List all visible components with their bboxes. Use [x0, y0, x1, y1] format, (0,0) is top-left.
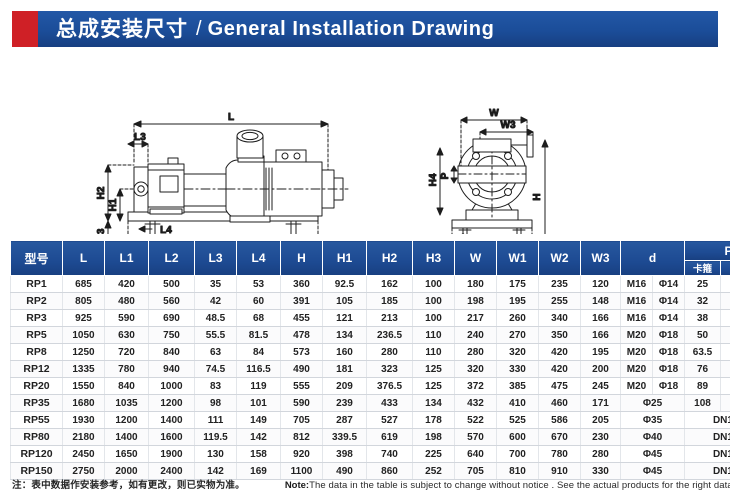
cell-L1: 1650 [105, 446, 149, 463]
cell-p-flange: DN65 [721, 361, 730, 378]
col-header-H2: H2 [367, 241, 413, 276]
cell-L: 2450 [63, 446, 105, 463]
col-header-P-clamp: 卡箍 [685, 261, 721, 276]
col-header-W1: W1 [497, 241, 539, 276]
cell-L1: 1200 [105, 412, 149, 429]
cell-W1: 600 [497, 429, 539, 446]
end-view-drawing: W W3 H4 [428, 108, 548, 234]
cell-H1: 339.5 [323, 429, 367, 446]
table-row: RP35168010351200981015902394331344324104… [11, 395, 730, 412]
cell-L4: 142 [237, 429, 281, 446]
cell-H3: 110 [413, 344, 455, 361]
cell-d2: Φ14 [653, 293, 685, 310]
cell-H: 478 [281, 327, 323, 344]
cell-d1: M16 [621, 293, 653, 310]
cell-L4: 60 [237, 293, 281, 310]
cell-L1: 1035 [105, 395, 149, 412]
cell-H: 812 [281, 429, 323, 446]
cell-L3: 42 [195, 293, 237, 310]
cell-H3: 125 [413, 378, 455, 395]
cell-L1: 630 [105, 327, 149, 344]
cell-H: 391 [281, 293, 323, 310]
footer-note-en-label: Note: [285, 480, 309, 491]
cell-W3: 166 [581, 310, 621, 327]
col-header-H: H [281, 241, 323, 276]
table-row: RP12133578094074.5116.549018132312532033… [11, 361, 730, 378]
specification-table-container: 型号 L L1 L2 L3 L4 H H1 H2 H3 W W1 W2 W3 d… [10, 240, 722, 480]
cell-L3: 74.5 [195, 361, 237, 378]
cell-L4: 68 [237, 310, 281, 327]
foot-right [283, 221, 305, 234]
col-header-L3: L3 [195, 241, 237, 276]
cell-p-merged: DN125 [685, 429, 730, 446]
page-title-cn: 总成安装尺寸 [56, 19, 188, 40]
footer-note-cn: 注：表中数据作安装参考，如有更改，则已实物为准。 [12, 477, 245, 491]
cell-model: RP12 [11, 361, 63, 378]
cell-W: 217 [455, 310, 497, 327]
cell-W2: 475 [539, 378, 581, 395]
cell-L: 685 [63, 276, 105, 293]
cell-W3: 245 [581, 378, 621, 395]
cell-W3: 166 [581, 327, 621, 344]
footer-note-en: Note:The data in the table is subject to… [285, 480, 730, 491]
cell-H2: 162 [367, 276, 413, 293]
cell-H: 705 [281, 412, 323, 429]
cell-H3: 100 [413, 310, 455, 327]
cell-H1: 134 [323, 327, 367, 344]
cell-W2: 670 [539, 429, 581, 446]
cell-H3: 110 [413, 327, 455, 344]
cell-d1: M20 [621, 327, 653, 344]
cell-L2: 840 [149, 344, 195, 361]
end-foot-left [456, 228, 474, 234]
cell-W: 280 [455, 344, 497, 361]
cell-W3: 171 [581, 395, 621, 412]
cell-L3: 98 [195, 395, 237, 412]
cell-L2: 560 [149, 293, 195, 310]
cell-W: 198 [455, 293, 497, 310]
cell-model: RP55 [11, 412, 63, 429]
cell-d1: M20 [621, 361, 653, 378]
cell-W3: 120 [581, 276, 621, 293]
cell-L2: 1900 [149, 446, 195, 463]
cell-W: 640 [455, 446, 497, 463]
cell-W2: 460 [539, 395, 581, 412]
cell-L3: 35 [195, 276, 237, 293]
cell-H: 573 [281, 344, 323, 361]
table-row: RP28054805604260391105185100198195255148… [11, 293, 730, 310]
cell-W2: 255 [539, 293, 581, 310]
cell-p-clamp: 38 [685, 310, 721, 327]
dimension-L3: L3 [128, 132, 148, 164]
cell-L2: 940 [149, 361, 195, 378]
table-header: 型号 L L1 L2 L3 L4 H H1 H2 H3 W W1 W2 W3 d… [11, 241, 730, 276]
page-title-en: General Installation Drawing [208, 19, 495, 39]
table-body: RP1685420500355336092.516210018017523512… [11, 276, 730, 480]
cell-L2: 500 [149, 276, 195, 293]
cell-L4: 149 [237, 412, 281, 429]
cell-W1: 320 [497, 344, 539, 361]
cell-d-merged: Φ25 [621, 395, 685, 412]
cell-W: 372 [455, 378, 497, 395]
cell-H: 920 [281, 446, 323, 463]
cell-L: 1050 [63, 327, 105, 344]
specification-table: 型号 L L1 L2 L3 L4 H H1 H2 H3 W W1 W2 W3 d… [10, 240, 730, 480]
cell-d2: Φ18 [653, 378, 685, 395]
col-header-L4: L4 [237, 241, 281, 276]
cell-L3: 55.5 [195, 327, 237, 344]
footer-note-en-text: The data in the table is subject to chan… [309, 480, 730, 491]
cell-W3: 230 [581, 429, 621, 446]
cell-W2: 350 [539, 327, 581, 344]
cell-p-merged: DN150 [685, 446, 730, 463]
banner-accent-block [12, 11, 38, 47]
cell-H: 360 [281, 276, 323, 293]
cell-L2: 750 [149, 327, 195, 344]
cell-H2: 376.5 [367, 378, 413, 395]
cell-p-flange: DN100 [721, 395, 730, 412]
dim-label-H2: H2 [96, 186, 107, 199]
cell-L2: 1400 [149, 412, 195, 429]
cell-W: 570 [455, 429, 497, 446]
cell-W1: 270 [497, 327, 539, 344]
dimension-P: P [440, 166, 457, 183]
dimension-H: H [532, 140, 548, 234]
cell-p-flange: DN25 [721, 293, 730, 310]
cell-d-merged: Φ45 [621, 446, 685, 463]
cell-H3: 100 [413, 293, 455, 310]
cell-H: 555 [281, 378, 323, 395]
cell-d1: M16 [621, 310, 653, 327]
cell-L3: 119.5 [195, 429, 237, 446]
cell-d2: Φ14 [653, 276, 685, 293]
installation-drawing-svg: L L3 H2 [0, 52, 730, 234]
table-row: RP12024501650190013015892039874022564070… [11, 446, 730, 463]
col-header-P-flange: 法兰 [721, 261, 730, 276]
gearbox-body [226, 130, 270, 222]
cell-H3: 198 [413, 429, 455, 446]
cell-L4: 53 [237, 276, 281, 293]
cell-H2: 527 [367, 412, 413, 429]
dim-label-H3: H3 [96, 228, 107, 234]
cell-L: 2180 [63, 429, 105, 446]
col-header-W: W [455, 241, 497, 276]
dim-label-H1: H1 [108, 198, 119, 211]
cell-W1: 385 [497, 378, 539, 395]
cell-L1: 780 [105, 361, 149, 378]
dim-label-P: P [440, 172, 451, 179]
col-header-H1: H1 [323, 241, 367, 276]
col-header-model: 型号 [11, 241, 63, 276]
col-header-H3: H3 [413, 241, 455, 276]
cell-H2: 280 [367, 344, 413, 361]
cell-H1: 160 [323, 344, 367, 361]
cell-L2: 1000 [149, 378, 195, 395]
cell-W3: 148 [581, 293, 621, 310]
col-header-W3: W3 [581, 241, 621, 276]
cell-L: 805 [63, 293, 105, 310]
cell-model: RP120 [11, 446, 63, 463]
table-row: RP1685420500355336092.516210018017523512… [11, 276, 730, 293]
cell-W2: 780 [539, 446, 581, 463]
cell-L2: 1200 [149, 395, 195, 412]
table-row: RP201550840100083119555209376.5125372385… [11, 378, 730, 395]
cell-W1: 195 [497, 293, 539, 310]
cell-W2: 586 [539, 412, 581, 429]
table-row: RP55193012001400111149705287527178522525… [11, 412, 730, 429]
cell-L1: 720 [105, 344, 149, 361]
cell-d1: M20 [621, 344, 653, 361]
cell-p-flange: DN50 [721, 344, 730, 361]
col-header-d: d [621, 241, 685, 276]
banner-bar: 总成安装尺寸 / General Installation Drawing [38, 11, 718, 47]
cell-d2: Φ18 [653, 344, 685, 361]
cell-p-flange: DN40 [721, 327, 730, 344]
dim-label-W: W [489, 108, 499, 119]
cell-W2: 420 [539, 361, 581, 378]
cell-H: 590 [281, 395, 323, 412]
cell-H2: 619 [367, 429, 413, 446]
cell-W: 522 [455, 412, 497, 429]
cell-W3: 195 [581, 344, 621, 361]
cell-L: 1250 [63, 344, 105, 361]
cell-H2: 740 [367, 446, 413, 463]
cell-p-clamp: 50 [685, 327, 721, 344]
cell-H1: 239 [323, 395, 367, 412]
cell-L3: 83 [195, 378, 237, 395]
cell-L4: 81.5 [237, 327, 281, 344]
cell-H: 455 [281, 310, 323, 327]
cell-p-clamp: 89 [685, 378, 721, 395]
cell-L2: 1600 [149, 429, 195, 446]
cell-d2: Φ18 [653, 327, 685, 344]
dim-label-W3: W3 [501, 120, 516, 131]
cell-model: RP2 [11, 293, 63, 310]
table-row: RP81250720840638457316028011028032042019… [11, 344, 730, 361]
cell-W1: 260 [497, 310, 539, 327]
cell-L4: 158 [237, 446, 281, 463]
cell-p-clamp: 108 [685, 395, 721, 412]
cell-L3: 48.5 [195, 310, 237, 327]
cell-p-clamp: 76 [685, 361, 721, 378]
table-header-row-main: 型号 L L1 L2 L3 L4 H H1 H2 H3 W W1 W2 W3 d… [11, 241, 730, 261]
cell-p-clamp: 25 [685, 276, 721, 293]
cell-H1: 121 [323, 310, 367, 327]
cell-W1: 175 [497, 276, 539, 293]
col-header-L1: L1 [105, 241, 149, 276]
coupling-housing [184, 174, 226, 206]
cell-W1: 525 [497, 412, 539, 429]
cell-d2: Φ18 [653, 361, 685, 378]
cell-H: 490 [281, 361, 323, 378]
pump-head [134, 158, 184, 214]
cell-d-merged: Φ40 [621, 429, 685, 446]
cell-L4: 101 [237, 395, 281, 412]
cell-H3: 100 [413, 276, 455, 293]
title-separator: / [196, 19, 202, 39]
cell-p-merged: DN125 [685, 412, 730, 429]
cell-H1: 181 [323, 361, 367, 378]
cell-L: 1335 [63, 361, 105, 378]
cell-model: RP35 [11, 395, 63, 412]
cell-L1: 420 [105, 276, 149, 293]
cell-p-flange: DN80 [721, 378, 730, 395]
cell-p-clamp: 32 [685, 293, 721, 310]
cell-H2: 185 [367, 293, 413, 310]
cell-W2: 420 [539, 344, 581, 361]
technical-drawings-area: L L3 H2 [0, 52, 730, 234]
cell-H2: 213 [367, 310, 413, 327]
cell-L2: 690 [149, 310, 195, 327]
table-row: RP392559069048.5684551212131002172603401… [11, 310, 730, 327]
side-view-drawing: L L3 H2 [96, 112, 348, 234]
table-row: RP80218014001600119.5142812339.561919857… [11, 429, 730, 446]
cell-H1: 105 [323, 293, 367, 310]
cell-W: 432 [455, 395, 497, 412]
cell-W: 320 [455, 361, 497, 378]
cell-W3: 205 [581, 412, 621, 429]
cell-L1: 1400 [105, 429, 149, 446]
dimension-W3: W3 [480, 120, 533, 139]
cell-L4: 119 [237, 378, 281, 395]
footer-note: 注：表中数据作安装参考，如有更改，则已实物为准。 Note:The data i… [12, 477, 722, 491]
page-header-banner: 总成安装尺寸 / General Installation Drawing [12, 11, 718, 47]
cell-H1: 209 [323, 378, 367, 395]
cell-L3: 130 [195, 446, 237, 463]
cell-p-flange: DN32 [721, 310, 730, 327]
cell-H3: 134 [413, 395, 455, 412]
cell-L: 1680 [63, 395, 105, 412]
cell-W1: 410 [497, 395, 539, 412]
cell-H2: 433 [367, 395, 413, 412]
dimension-L2: L2 [128, 221, 318, 234]
cell-W2: 340 [539, 310, 581, 327]
cell-H2: 323 [367, 361, 413, 378]
cell-W: 180 [455, 276, 497, 293]
cell-d1: M20 [621, 378, 653, 395]
cell-L1: 840 [105, 378, 149, 395]
dimension-H4: H4 [428, 148, 443, 215]
cell-H1: 92.5 [323, 276, 367, 293]
dim-label-L4: L4 [160, 225, 172, 234]
dimension-H3: H3 [96, 221, 111, 234]
cell-model: RP1 [11, 276, 63, 293]
cell-H1: 287 [323, 412, 367, 429]
cell-H3: 225 [413, 446, 455, 463]
cell-p-clamp: 63.5 [685, 344, 721, 361]
end-foot-right [510, 228, 528, 234]
cell-L: 1550 [63, 378, 105, 395]
dim-label-H: H [532, 193, 543, 200]
cell-W3: 200 [581, 361, 621, 378]
cell-L4: 116.5 [237, 361, 281, 378]
cell-model: RP3 [11, 310, 63, 327]
cell-model: RP20 [11, 378, 63, 395]
cell-W2: 235 [539, 276, 581, 293]
cell-W3: 280 [581, 446, 621, 463]
cell-L1: 590 [105, 310, 149, 327]
dimension-L4: L4 [139, 225, 172, 234]
cell-d-merged: Φ35 [621, 412, 685, 429]
cell-model: RP80 [11, 429, 63, 446]
cell-W: 240 [455, 327, 497, 344]
col-header-L2: L2 [149, 241, 195, 276]
col-header-L: L [63, 241, 105, 276]
cell-L4: 84 [237, 344, 281, 361]
dim-label-L: L [228, 112, 234, 123]
dim-label-L3: L3 [134, 132, 146, 143]
cell-L: 925 [63, 310, 105, 327]
cell-W1: 330 [497, 361, 539, 378]
cell-L: 1930 [63, 412, 105, 429]
table-row: RP5105063075055.581.5478134236.511024027… [11, 327, 730, 344]
col-header-P: P [685, 241, 730, 261]
cell-H1: 398 [323, 446, 367, 463]
cell-model: RP5 [11, 327, 63, 344]
cell-model: RP8 [11, 344, 63, 361]
cell-d1: M16 [621, 276, 653, 293]
cell-H2: 236.5 [367, 327, 413, 344]
cell-L1: 480 [105, 293, 149, 310]
dim-label-H4: H4 [428, 173, 439, 186]
cell-L3: 63 [195, 344, 237, 361]
cell-d2: Φ14 [653, 310, 685, 327]
cell-W1: 700 [497, 446, 539, 463]
col-header-W2: W2 [539, 241, 581, 276]
cell-p-flange: Dn20 [721, 276, 730, 293]
cell-H3: 125 [413, 361, 455, 378]
cell-H3: 178 [413, 412, 455, 429]
cell-L3: 111 [195, 412, 237, 429]
